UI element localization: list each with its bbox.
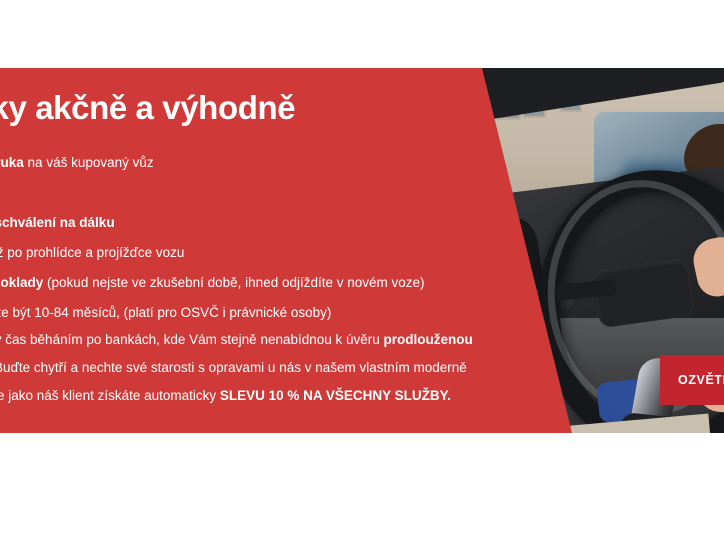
list-item: louvy až po prohlídce a projížďce vozu <box>0 238 594 268</box>
benefit-list: ená záruka na váš kupovaný vůz od 0 % é … <box>0 148 594 328</box>
banner-headline: átky akčně a výhodně <box>0 88 295 128</box>
list-item: tek může být 10-84 měsíců, (platí pro OS… <box>0 298 594 328</box>
paragraph-text: isu, kde jako náš klient získáte automat… <box>0 388 220 403</box>
paragraph-line: vozu! Buďte chytří a nechte své starosti… <box>0 354 598 382</box>
benefit-bold: ená záruka <box>0 155 24 170</box>
list-item: e dva doklady (pokud nejste ve zkušební … <box>0 268 594 298</box>
banner-paragraph: ocenný čas běháním po bankách, kde Vám s… <box>0 326 598 410</box>
list-item: od 0 % <box>0 178 594 208</box>
cta-button[interactable]: OZVĚTE <box>660 355 724 405</box>
benefit-text: na váš kupovaný vůz <box>24 155 154 170</box>
paragraph-line: isu, kde jako náš klient získáte automat… <box>0 382 598 410</box>
paragraph-line: ocenný čas běháním po bankách, kde Vám s… <box>0 326 598 354</box>
paragraph-emphasis: SLEVU 10 % NA VŠECHNY SLUŽBY. <box>220 388 451 403</box>
cta-button-label: OZVĚTE <box>678 373 724 387</box>
promo-banner: átky akčně a výhodně ená záruka na váš k… <box>0 68 724 433</box>
benefit-bold: é předschválení na dálku <box>0 215 115 230</box>
paragraph-emphasis: prodlouženou <box>384 332 473 347</box>
benefit-bold: e dva doklady <box>0 275 43 290</box>
benefit-text: tek může být 10-84 měsíců, (platí pro OS… <box>0 305 331 320</box>
benefit-text: (pokud nejste ve zkušební době, ihned od… <box>43 275 424 290</box>
page-root: átky akčně a výhodně ená záruka na váš k… <box>0 0 724 560</box>
list-item: é předschválení na dálku <box>0 208 594 238</box>
banner-content: átky akčně a výhodně ená záruka na váš k… <box>0 68 600 433</box>
paragraph-text: vozu! Buďte chytří a nechte své starosti… <box>0 360 467 375</box>
paragraph-text: ocenný čas běháním po bankách, kde Vám s… <box>0 332 384 347</box>
benefit-text: louvy až po prohlídce a projížďce vozu <box>0 245 184 260</box>
list-item: ená záruka na váš kupovaný vůz <box>0 148 594 178</box>
